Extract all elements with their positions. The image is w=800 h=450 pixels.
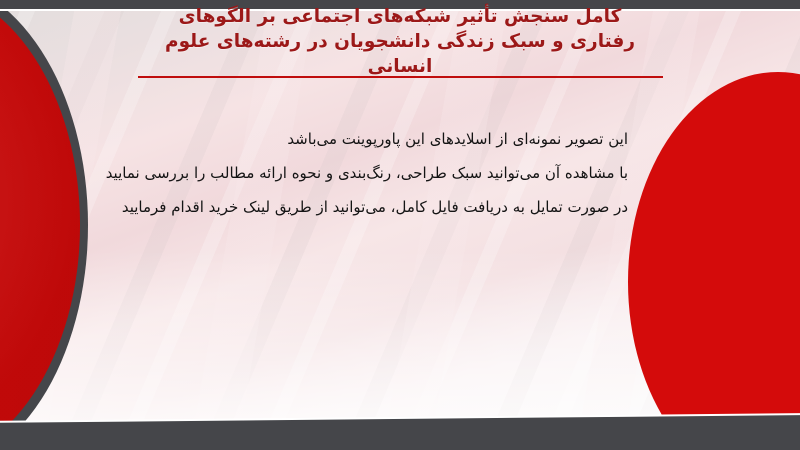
slide-body: این تصویر نمونه‌ای از اسلایدهای این پاور… xyxy=(140,122,628,224)
title-underline-rule xyxy=(138,76,663,78)
slide-title-line-1: کامل سنجش تأثیر شبکه‌های اجتماعی بر الگو… xyxy=(120,4,680,29)
slide-body-line-1: این تصویر نمونه‌ای از اسلایدهای این پاور… xyxy=(140,122,628,156)
presentation-slide: کامل سنجش تأثیر شبکه‌های اجتماعی بر الگو… xyxy=(0,0,800,450)
slide-title-line-2: رفتاری و سبک زندگی دانشجویان در رشته‌های… xyxy=(120,29,680,54)
slide-body-line-3: در صورت تمایل به دریافت فایل کامل، می‌تو… xyxy=(140,190,628,224)
slide-title: کامل سنجش تأثیر شبکه‌های اجتماعی بر الگو… xyxy=(120,4,680,79)
slide-body-line-2: با مشاهده آن می‌توانید سبک طراحی، رنگ‌بن… xyxy=(140,156,628,190)
